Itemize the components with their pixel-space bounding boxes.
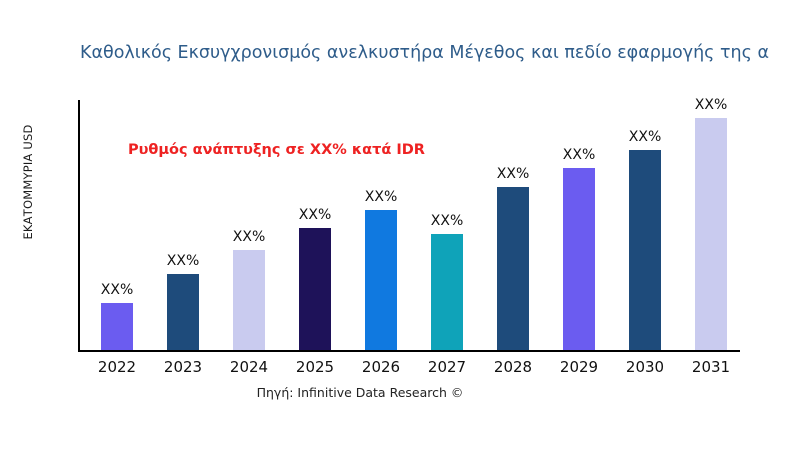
chart-title: Καθολικός Εκσυγχρονισμός ανελκυστήρα Μέγ… <box>0 38 800 68</box>
bar-2029[interactable] <box>563 168 595 350</box>
x-tick-2025: 2025 <box>296 358 334 376</box>
x-tick-2030: 2030 <box>626 358 664 376</box>
bar-2025[interactable] <box>299 228 331 350</box>
bar-2028[interactable] <box>497 187 529 350</box>
bar-group-2024: XX%2024 <box>216 100 282 350</box>
bar-value-label-2026: XX% <box>365 190 397 204</box>
bar-2024[interactable] <box>233 250 265 350</box>
bar-value-label-2027: XX% <box>431 214 463 228</box>
source-caption: Πηγή: Infinitive Data Research © <box>0 385 720 400</box>
bar-group-2030: XX%2030 <box>612 100 678 350</box>
x-tick-2024: 2024 <box>230 358 268 376</box>
bar-value-label-2031: XX% <box>695 98 727 112</box>
bar-group-2029: XX%2029 <box>546 100 612 350</box>
bar-group-2023: XX%2023 <box>150 100 216 350</box>
bar-2031[interactable] <box>695 118 727 350</box>
bar-chart: Καθολικός Εκσυγχρονισμός ανελκυστήρα Μέγ… <box>0 0 800 450</box>
bar-2023[interactable] <box>167 274 199 350</box>
bar-value-label-2023: XX% <box>167 254 199 268</box>
bar-2026[interactable] <box>365 210 397 350</box>
bar-2022[interactable] <box>101 303 133 350</box>
bar-group-2025: XX%2025 <box>282 100 348 350</box>
x-tick-2026: 2026 <box>362 358 400 376</box>
x-tick-2027: 2027 <box>428 358 466 376</box>
bar-value-label-2025: XX% <box>299 208 331 222</box>
x-axis-line <box>78 350 740 352</box>
bar-2030[interactable] <box>629 150 661 350</box>
bar-group-2026: XX%2026 <box>348 100 414 350</box>
x-tick-2028: 2028 <box>494 358 532 376</box>
x-tick-2029: 2029 <box>560 358 598 376</box>
x-tick-2023: 2023 <box>164 358 202 376</box>
bar-value-label-2022: XX% <box>101 283 133 297</box>
bar-value-label-2030: XX% <box>629 130 661 144</box>
y-axis-line <box>78 100 80 350</box>
bar-2027[interactable] <box>431 234 463 350</box>
plot-area: XX%2022XX%2023XX%2024XX%2025XX%2026XX%20… <box>78 100 784 350</box>
bar-value-label-2028: XX% <box>497 167 529 181</box>
growth-rate-annotation: Ρυθμός ανάπτυξης σε XX% κατά IDR <box>128 142 425 158</box>
x-tick-2031: 2031 <box>692 358 730 376</box>
bar-group-2028: XX%2028 <box>480 100 546 350</box>
bar-group-2022: XX%2022 <box>84 100 150 350</box>
bar-value-label-2024: XX% <box>233 230 265 244</box>
x-tick-2022: 2022 <box>98 358 136 376</box>
bar-group-2031: XX%2031 <box>678 100 744 350</box>
bar-value-label-2029: XX% <box>563 148 595 162</box>
bar-group-2027: XX%2027 <box>414 100 480 350</box>
y-axis-label: ΕΚΑΤΟΜΜΥΡΙΑ USD <box>21 82 35 282</box>
